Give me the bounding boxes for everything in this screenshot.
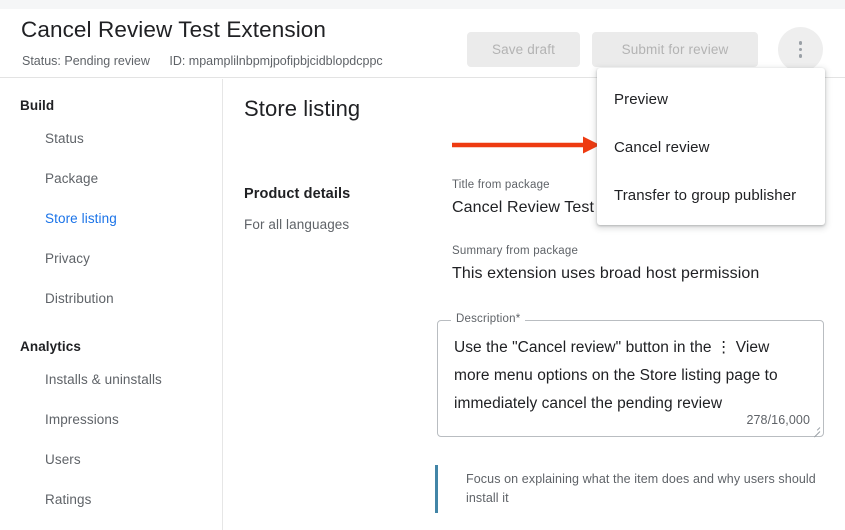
kebab-dot-icon xyxy=(799,41,802,44)
menu-item-preview[interactable]: Preview xyxy=(597,76,825,124)
description-hint-callout: Focus on explaining what the item does a… xyxy=(435,465,825,513)
sidebar-item-status[interactable]: Status xyxy=(0,119,222,159)
kebab-dot-icon xyxy=(799,54,802,57)
menu-item-transfer-to-group-publisher[interactable]: Transfer to group publisher xyxy=(597,172,825,220)
sidebar-item-impressions[interactable]: Impressions xyxy=(0,400,222,440)
description-label: Description* xyxy=(451,313,525,325)
sidebar-group-label-analytics: Analytics xyxy=(0,334,222,360)
sidebar-item-package[interactable]: Package xyxy=(0,159,222,199)
resize-handle-icon[interactable] xyxy=(810,424,821,435)
submit-for-review-button[interactable]: Submit for review xyxy=(592,32,758,67)
sidebar-item-privacy[interactable]: Privacy xyxy=(0,239,222,279)
page-title-heading: Cancel Review Test Extension xyxy=(21,17,326,43)
sidebar-item-ratings[interactable]: Ratings xyxy=(0,480,222,520)
store-listing-heading: Store listing xyxy=(244,96,360,122)
sidebar-nav: Build Status Package Store listing Priva… xyxy=(0,79,223,530)
description-char-counter: 278/16,000 xyxy=(746,413,810,427)
status-text: Status: Pending review xyxy=(22,54,150,68)
product-details-sublabel: For all languages xyxy=(244,217,349,232)
header-metadata: Status: Pending review ID: mpamplilnbpmj… xyxy=(22,54,383,68)
sidebar-item-users[interactable]: Users xyxy=(0,440,222,480)
sidebar-group-label-build: Build xyxy=(0,93,222,119)
menu-item-cancel-review[interactable]: Cancel review xyxy=(597,124,825,172)
kebab-dot-icon xyxy=(799,48,802,51)
save-draft-button[interactable]: Save draft xyxy=(467,32,580,67)
browser-chrome-strip xyxy=(0,0,845,9)
description-textarea[interactable]: Description* Use the "Cancel review" but… xyxy=(437,320,824,437)
more-options-button[interactable] xyxy=(778,27,823,72)
sidebar-item-store-listing[interactable]: Store listing xyxy=(0,199,222,239)
summary-from-package-value: This extension uses broad host permissio… xyxy=(452,265,759,283)
product-details-label: Product details xyxy=(244,186,350,202)
sidebar-item-distribution[interactable]: Distribution xyxy=(0,279,222,319)
overflow-dropdown-menu: Preview Cancel review Transfer to group … xyxy=(597,68,825,225)
summary-from-package-field: Summary from package This extension uses… xyxy=(452,245,759,283)
summary-from-package-label: Summary from package xyxy=(452,245,759,257)
sidebar-item-installs-uninstalls[interactable]: Installs & uninstalls xyxy=(0,360,222,400)
description-value[interactable]: Use the "Cancel review" button in the ⋮ … xyxy=(454,334,809,418)
extension-id-text: ID: mpamplilnbpmjpofipbjcidblopdcppc xyxy=(169,54,382,68)
